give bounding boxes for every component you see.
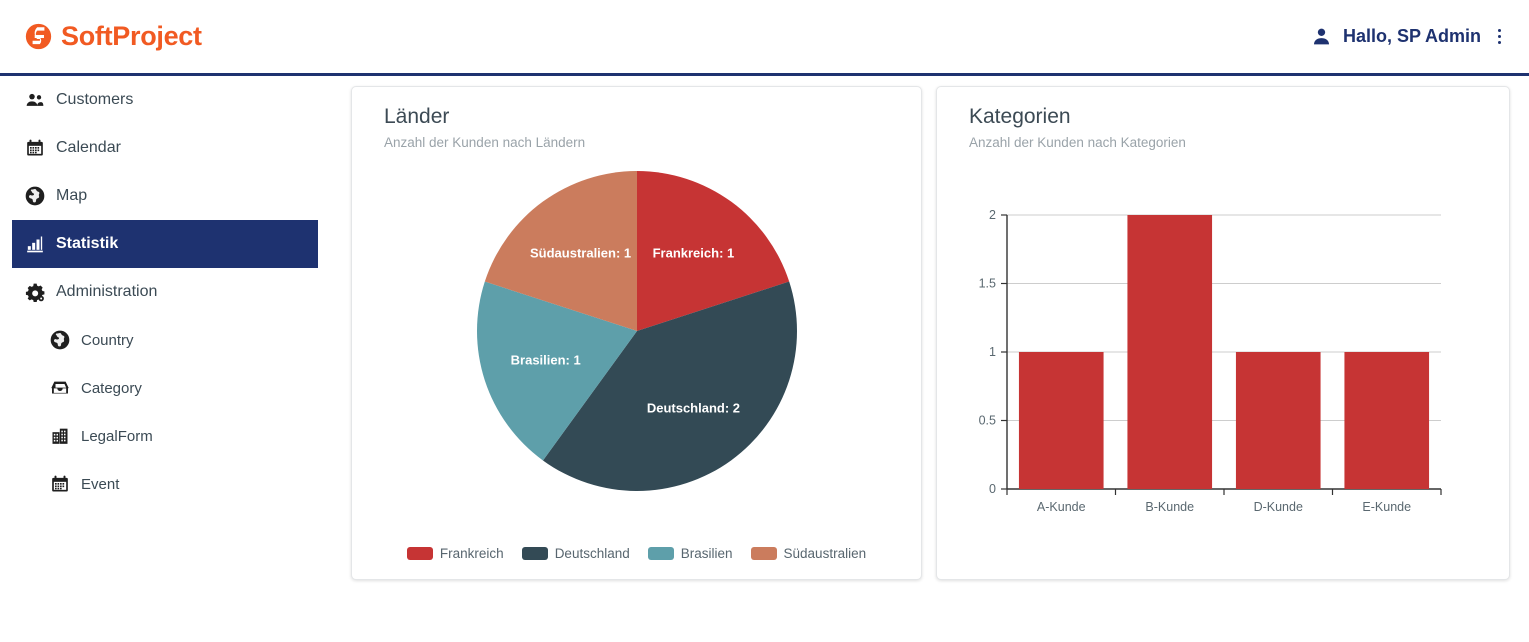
legend-item[interactable]: Brasilien: [648, 546, 733, 561]
brand-logo[interactable]: SoftProject: [0, 21, 202, 52]
pie-slice-label: Brasilien: 1: [510, 353, 580, 368]
categories-card: Kategorien Anzahl der Kunden nach Katego…: [936, 86, 1510, 580]
x-tick-label: E-Kunde: [1362, 500, 1411, 514]
y-tick-label: 2: [989, 208, 996, 222]
legend-swatch: [648, 547, 674, 560]
kebab-dot: [1498, 29, 1501, 32]
globe-icon: [50, 330, 70, 350]
page-title: Kategorien: [937, 87, 1509, 129]
sidebar-item-label: Calendar: [56, 139, 121, 157]
sidebar-item-category[interactable]: Category: [12, 364, 318, 412]
card-subtitle: Anzahl der Kunden nach Ländern: [352, 129, 921, 150]
countries-card: Länder Anzahl der Kunden nach Ländern Fr…: [351, 86, 922, 580]
bar-chart-svg[interactable]: 00.511.52A-KundeB-KundeD-KundeE-Kunde: [937, 197, 1511, 527]
sidebar-item-label: Customers: [56, 91, 133, 109]
page-title: Länder: [352, 87, 921, 129]
x-tick-label: B-Kunde: [1145, 500, 1194, 514]
softproject-logo-icon: [25, 23, 52, 50]
legend-label: Deutschland: [555, 546, 630, 561]
legend-item[interactable]: Südaustralien: [751, 546, 867, 561]
header-user-area: Hallo, SP Admin: [1311, 26, 1529, 47]
pie-slice-label: Südaustralien: 1: [530, 245, 631, 260]
legend-item[interactable]: Frankreich: [407, 546, 504, 561]
person-icon: [1311, 26, 1332, 47]
y-tick-label: 0.5: [979, 414, 996, 428]
bar[interactable]: [1344, 352, 1429, 489]
kebab-menu-icon[interactable]: [1492, 27, 1507, 46]
pie-chart-svg[interactable]: Frankreich: 1Deutschland: 2Brasilien: 1S…: [472, 166, 802, 496]
sidebar-item-label: Category: [81, 380, 142, 397]
calendar-icon: [25, 138, 45, 158]
sidebar-item-label: Event: [81, 476, 119, 493]
people-icon: [25, 90, 45, 110]
kebab-dot: [1498, 35, 1501, 38]
globe-icon: [25, 186, 45, 206]
sidebar-item-label: Administration: [56, 283, 157, 301]
pie-slice-label: Frankreich: 1: [652, 245, 734, 260]
y-tick-label: 1: [989, 345, 996, 359]
legend-swatch: [522, 547, 548, 560]
x-tick-label: A-Kunde: [1037, 500, 1086, 514]
legend-swatch: [407, 547, 433, 560]
bar[interactable]: [1019, 352, 1104, 489]
sidebar-nav: Customers Cal: [0, 76, 330, 642]
app-header: SoftProject Hallo, SP Admin: [0, 0, 1529, 76]
legend-item[interactable]: Deutschland: [522, 546, 630, 561]
y-tick-label: 0: [989, 482, 996, 496]
sidebar-item-label: Map: [56, 187, 87, 205]
brand-name: SoftProject: [61, 21, 202, 52]
legend-label: Südaustralien: [784, 546, 867, 561]
sidebar-item-country[interactable]: Country: [12, 316, 318, 364]
sidebar-item-statistik[interactable]: Statistik: [12, 220, 318, 268]
legend-label: Frankreich: [440, 546, 504, 561]
sidebar-item-legalform[interactable]: LegalForm: [12, 412, 318, 460]
legend-label: Brasilien: [681, 546, 733, 561]
building-icon: [50, 426, 70, 446]
calendar-icon: [50, 474, 70, 494]
pie-chart: Frankreich: 1Deutschland: 2Brasilien: 1S…: [352, 150, 921, 510]
sidebar-item-label: Statistik: [56, 235, 118, 253]
gears-icon: [25, 282, 45, 302]
sidebar-item-customers[interactable]: Customers: [12, 76, 318, 124]
pie-legend: FrankreichDeutschlandBrasilienSüdaustral…: [352, 546, 921, 561]
bar[interactable]: [1127, 215, 1212, 489]
sidebar-item-event[interactable]: Event: [12, 460, 318, 508]
card-subtitle: Anzahl der Kunden nach Kategorien: [937, 129, 1509, 150]
x-tick-label: D-Kunde: [1254, 500, 1303, 514]
sidebar-item-administration[interactable]: Administration: [12, 268, 318, 316]
sidebar-item-label: LegalForm: [81, 428, 153, 445]
user-greeting: Hallo, SP Admin: [1343, 26, 1481, 47]
inbox-icon: [50, 378, 70, 398]
bar-chart-icon: [25, 234, 45, 254]
bar-chart: 00.511.52A-KundeB-KundeD-KundeE-Kunde: [937, 197, 1509, 581]
legend-swatch: [751, 547, 777, 560]
sidebar-item-calendar[interactable]: Calendar: [12, 124, 318, 172]
pie-slice-label: Deutschland: 2: [646, 401, 739, 416]
bar[interactable]: [1236, 352, 1321, 489]
y-tick-label: 1.5: [979, 277, 996, 291]
sidebar-item-map[interactable]: Map: [12, 172, 318, 220]
sidebar-item-label: Country: [81, 332, 134, 349]
kebab-dot: [1498, 41, 1501, 44]
